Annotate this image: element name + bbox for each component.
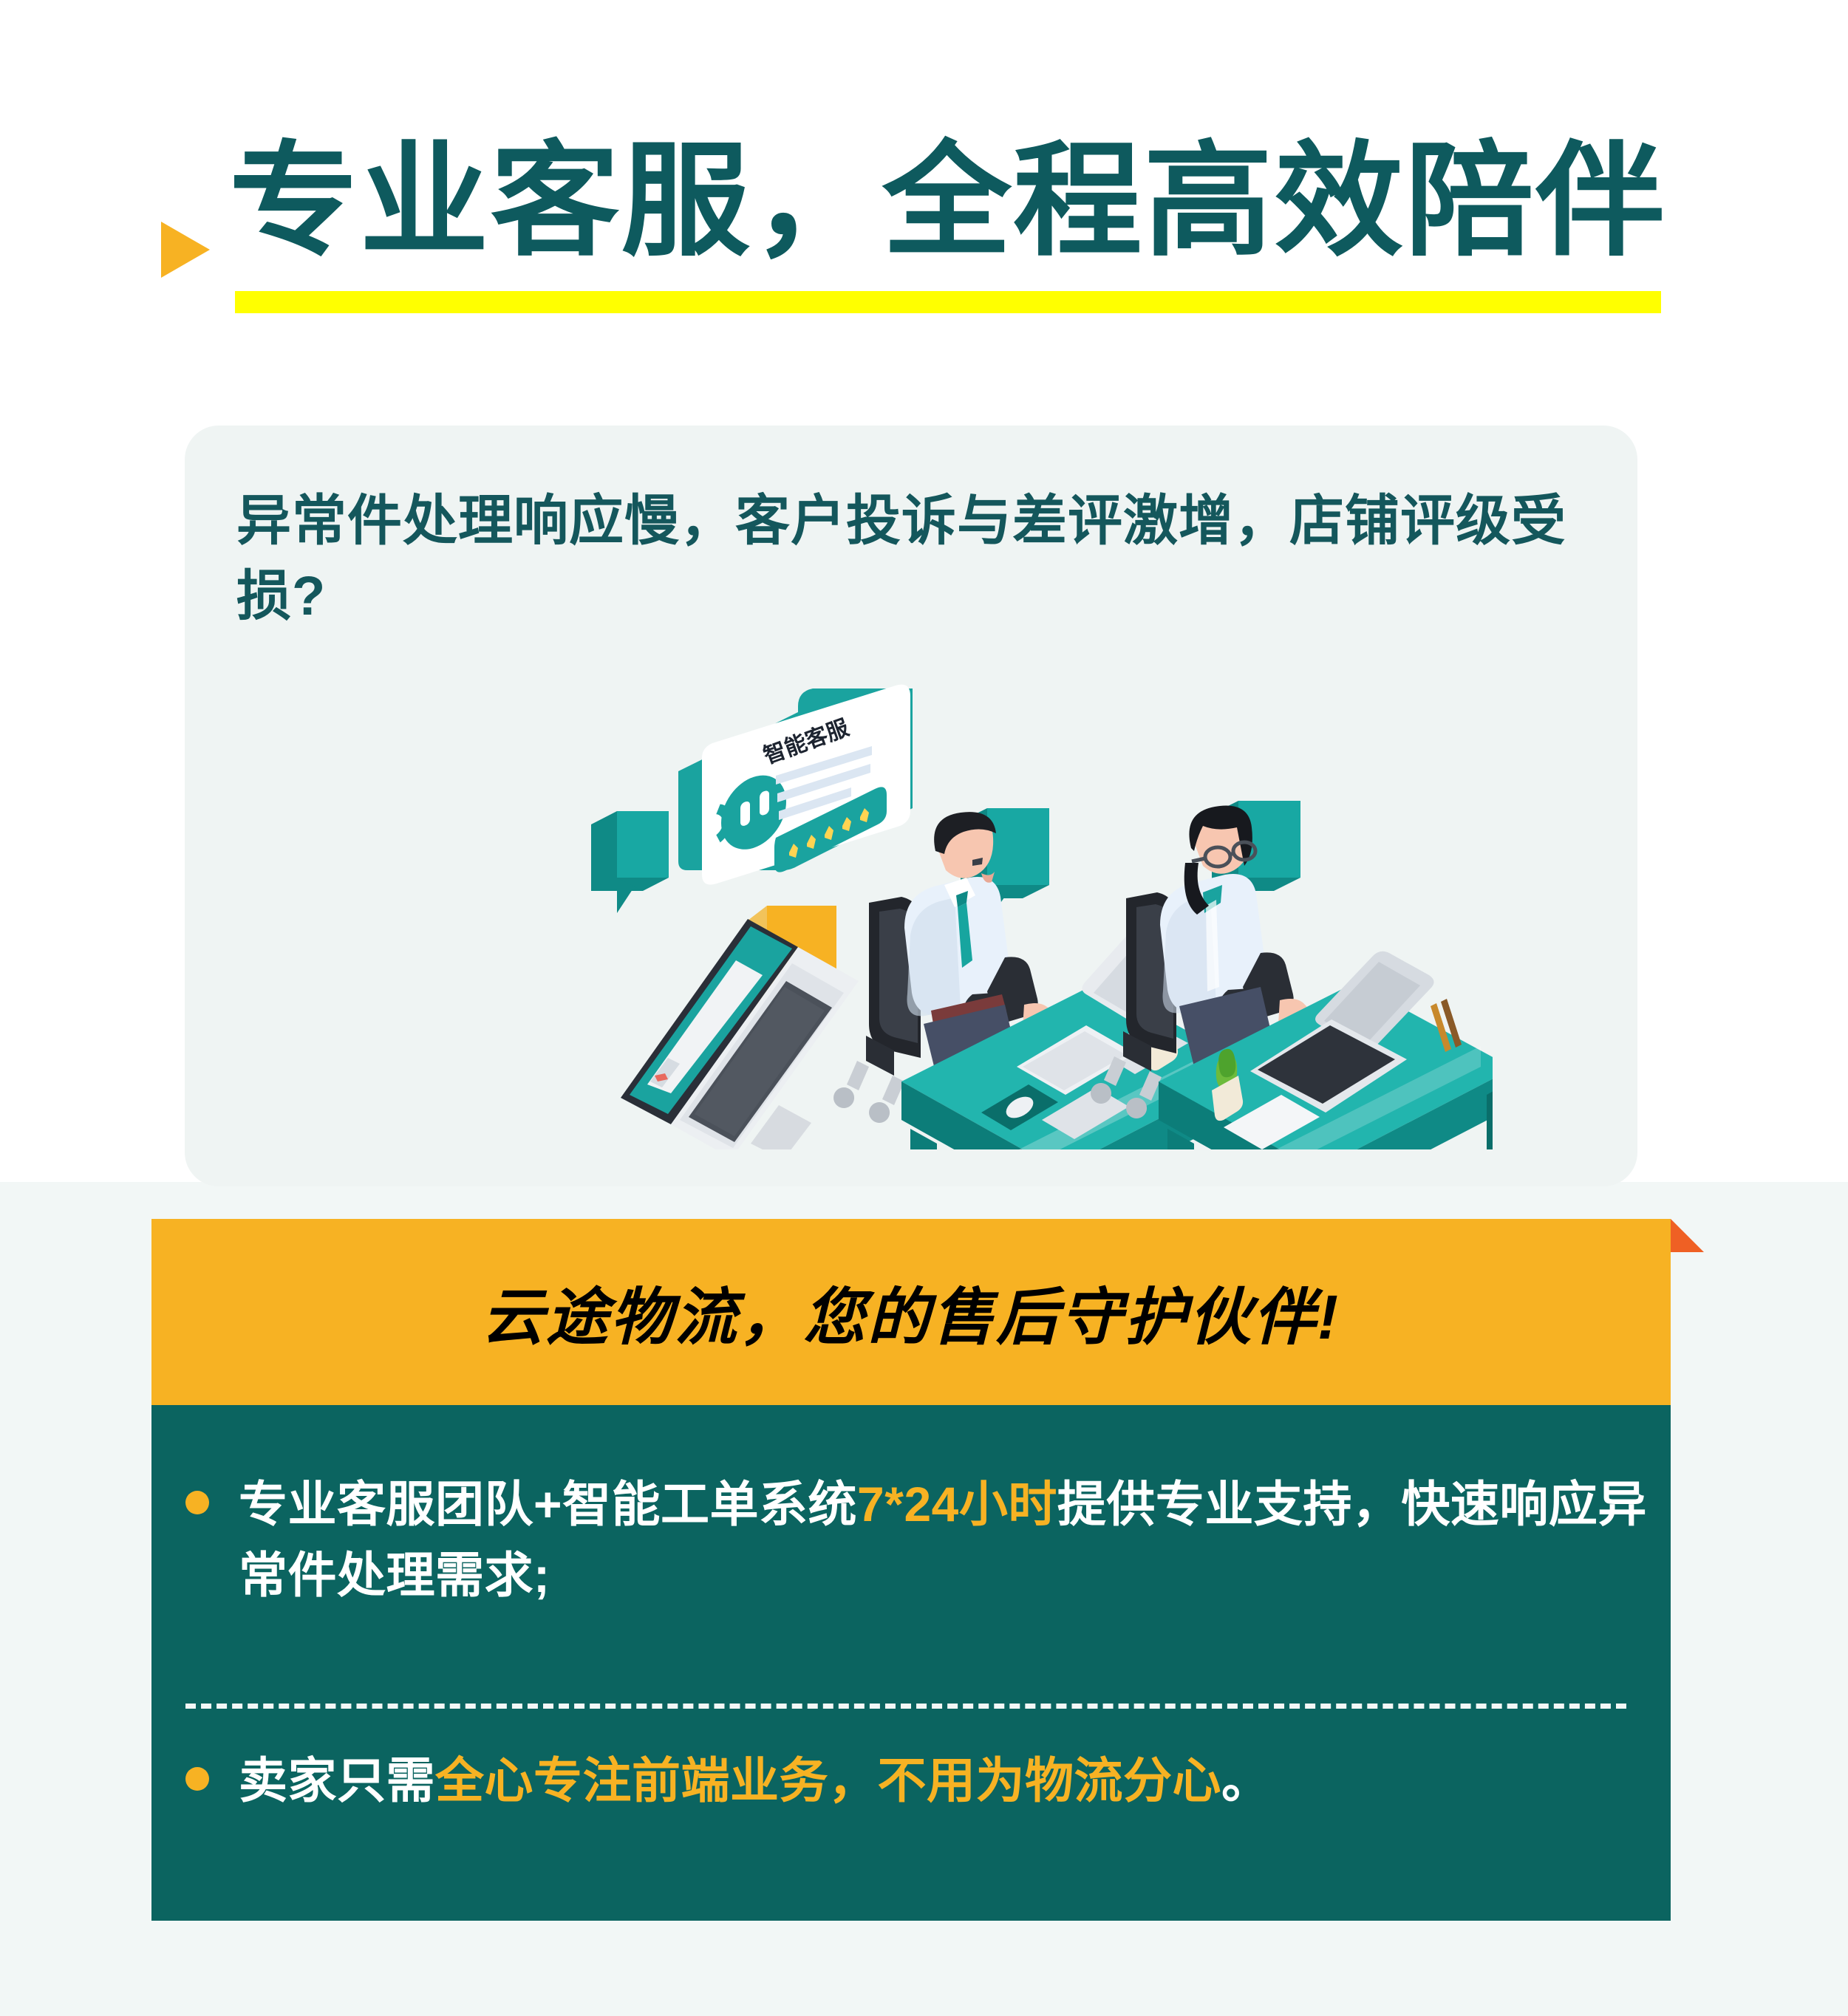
agent-female-workstation [1091,801,1493,1149]
ribbon-fold-right-icon [1671,1219,1704,1252]
benefit-2-part2: 。 [1221,1753,1271,1808]
bullet-dot-icon [185,1491,209,1514]
customer-service-illustration: 智能客服 [576,677,1493,1149]
card-heading: 异常件处理响应慢，客户投诉与差评激增，店铺评级受损? [236,483,1589,634]
benefit-1-highlight: 7*24小时 [857,1477,1057,1531]
problem-card: 异常件处理响应慢，客户投诉与差评激增，店铺评级受损? [185,426,1637,1186]
benefit-2-highlight: 全心专注前端业务，不用为物流分心 [435,1753,1221,1808]
page-title: 专业客服，全程高效陪伴 [229,139,1666,263]
benefit-1-part1: 专业客服团队+智能工单系统 [239,1477,857,1531]
smart-service-card: 智能客服 [678,685,913,885]
benefits-panel: 专业客服团队+智能工单系统7*24小时提供专业支持，快速响应异常件处理需求; 卖… [151,1405,1671,1921]
benefit-text-1: 专业客服团队+智能工单系统7*24小时提供专业支持，快速响应异常件处理需求; [239,1469,1648,1611]
solution-ribbon: 云途物流，您的售后守护伙伴! [151,1219,1671,1405]
header: 专业客服，全程高效陪伴 [0,0,1848,347]
chat-bubble-left [591,811,669,913]
ribbon-label: 云途物流，您的售后守护伙伴! [151,1219,1671,1405]
benefits-divider [185,1704,1626,1709]
bullet-dot-icon [185,1767,209,1791]
benefit-text-2: 卖家只需全心专注前端业务，不用为物流分心。 [239,1745,1648,1816]
benefit-item-1: 专业客服团队+智能工单系统7*24小时提供专业支持，快速响应异常件处理需求; [185,1469,1648,1611]
title-highlight-bar [235,291,1661,313]
play-triangle-icon [161,222,210,278]
benefit-item-2: 卖家只需全心专注前端业务，不用为物流分心。 [185,1745,1648,1816]
benefit-2-part1: 卖家只需 [239,1753,435,1808]
